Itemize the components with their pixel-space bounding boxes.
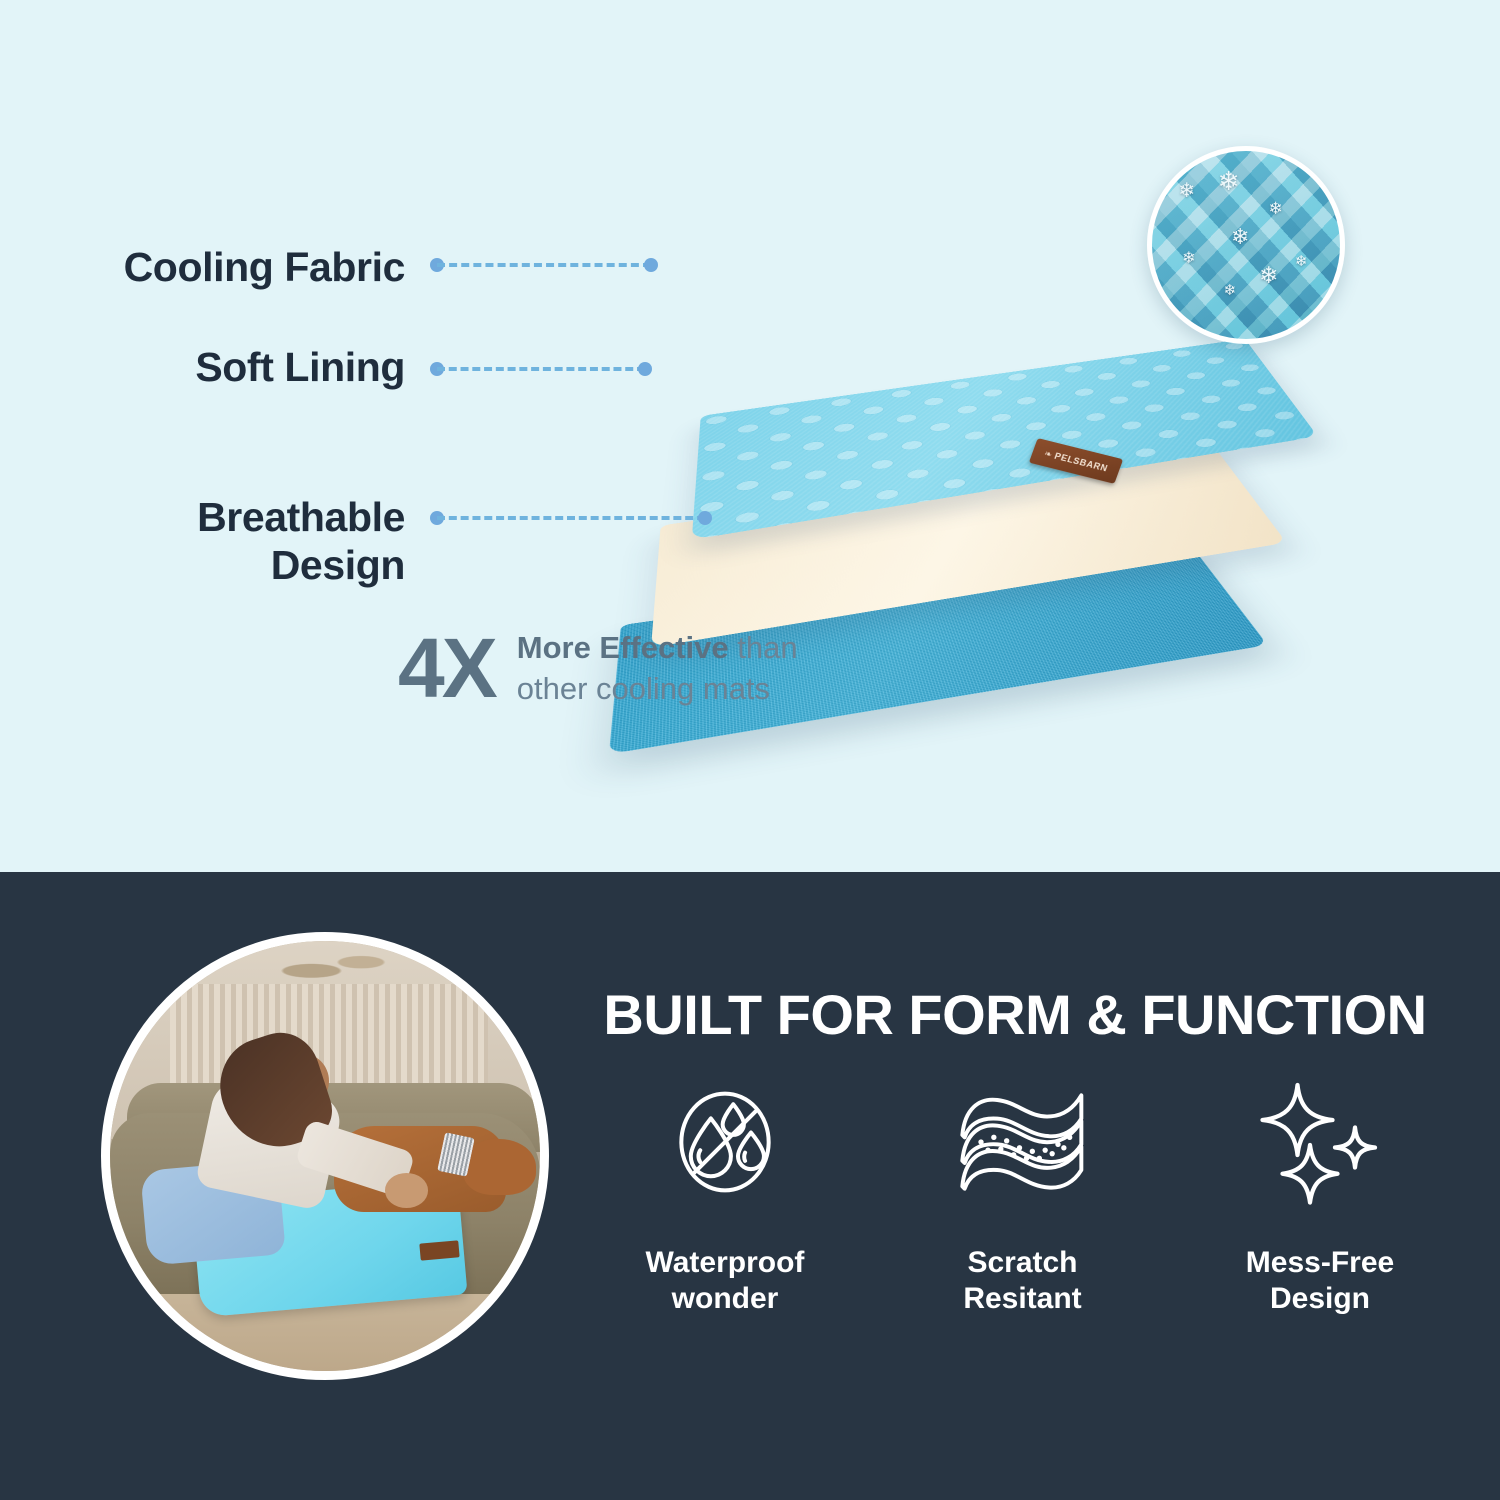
brand-tag-label: PELSBARN [1053, 451, 1109, 474]
stat-multiplier: 4X [398, 631, 495, 707]
connector-dot-right [698, 511, 712, 525]
feature-waterproof: Waterproof wonder [600, 1077, 850, 1317]
scratch-resistant-icon [953, 1077, 1093, 1207]
snowflake-icon: ❄ [1178, 181, 1195, 201]
connector-dashed-line [437, 516, 705, 520]
layer-label-cooling-fabric: Cooling Fabric [55, 243, 405, 291]
connector-soft-lining [430, 362, 652, 376]
photo-mat-brand-tag [419, 1240, 459, 1260]
waterproof-icon [666, 1077, 784, 1207]
connector-dashed-line [437, 263, 651, 267]
lifestyle-photo [101, 932, 549, 1380]
fabric-weave-magnifier: ❄ ❄ ❄ ❄ ❄ ❄ ❄ ❄ [1147, 146, 1345, 344]
photo-wall-art [265, 945, 420, 988]
snowflake-icon: ❄ [1223, 283, 1236, 298]
sparkle-icon [1255, 1077, 1385, 1207]
stat-description: More Effective than other cooling mats [517, 628, 847, 710]
photo-dog-head [463, 1139, 536, 1195]
connector-dot-right [644, 258, 658, 272]
snowflake-icon: ❄ [1231, 226, 1249, 248]
snowflake-icon: ❄ [1218, 168, 1240, 194]
layers-section: ❧ PELSBARN ❄ ❄ ❄ ❄ ❄ ❄ ❄ ❄ Cooling Fabri… [0, 0, 1500, 872]
feature-list: Waterproof wonder [600, 1077, 1445, 1317]
feature-mess-free: Mess-Free Design [1195, 1077, 1445, 1317]
layer-label-soft-lining: Soft Lining [55, 343, 405, 391]
features-headline: BUILT FOR FORM & FUNCTION [585, 982, 1445, 1047]
snowflake-icon: ❄ [1259, 264, 1278, 287]
feature-label: Scratch Resitant [963, 1245, 1081, 1317]
photo-woman-hand [385, 1173, 428, 1207]
feature-label: Mess-Free Design [1246, 1245, 1394, 1317]
connector-breathable-design [430, 511, 712, 525]
effectiveness-stat: 4X More Effective than other cooling mat… [398, 628, 847, 710]
snowflake-icon: ❄ [1269, 200, 1283, 217]
feature-label: Waterproof wonder [646, 1245, 805, 1317]
product-infographic: ❧ PELSBARN ❄ ❄ ❄ ❄ ❄ ❄ ❄ ❄ Cooling Fabri… [0, 0, 1500, 1500]
feature-scratch-resistant: Scratch Resitant [898, 1077, 1148, 1317]
connector-dashed-line [437, 367, 645, 371]
layer-label-breathable-design: Breathable Design [55, 493, 405, 590]
brand-logo-icon: ❧ [1043, 449, 1053, 459]
connector-cooling-fabric [430, 258, 658, 272]
stat-bold-text: More Effective [517, 630, 729, 665]
snowflake-icon: ❄ [1182, 251, 1195, 267]
connector-dot-right [638, 362, 652, 376]
features-section: BUILT FOR FORM & FUNCTION Waterproof won… [0, 872, 1500, 1500]
snowflake-icon: ❄ [1295, 254, 1308, 269]
